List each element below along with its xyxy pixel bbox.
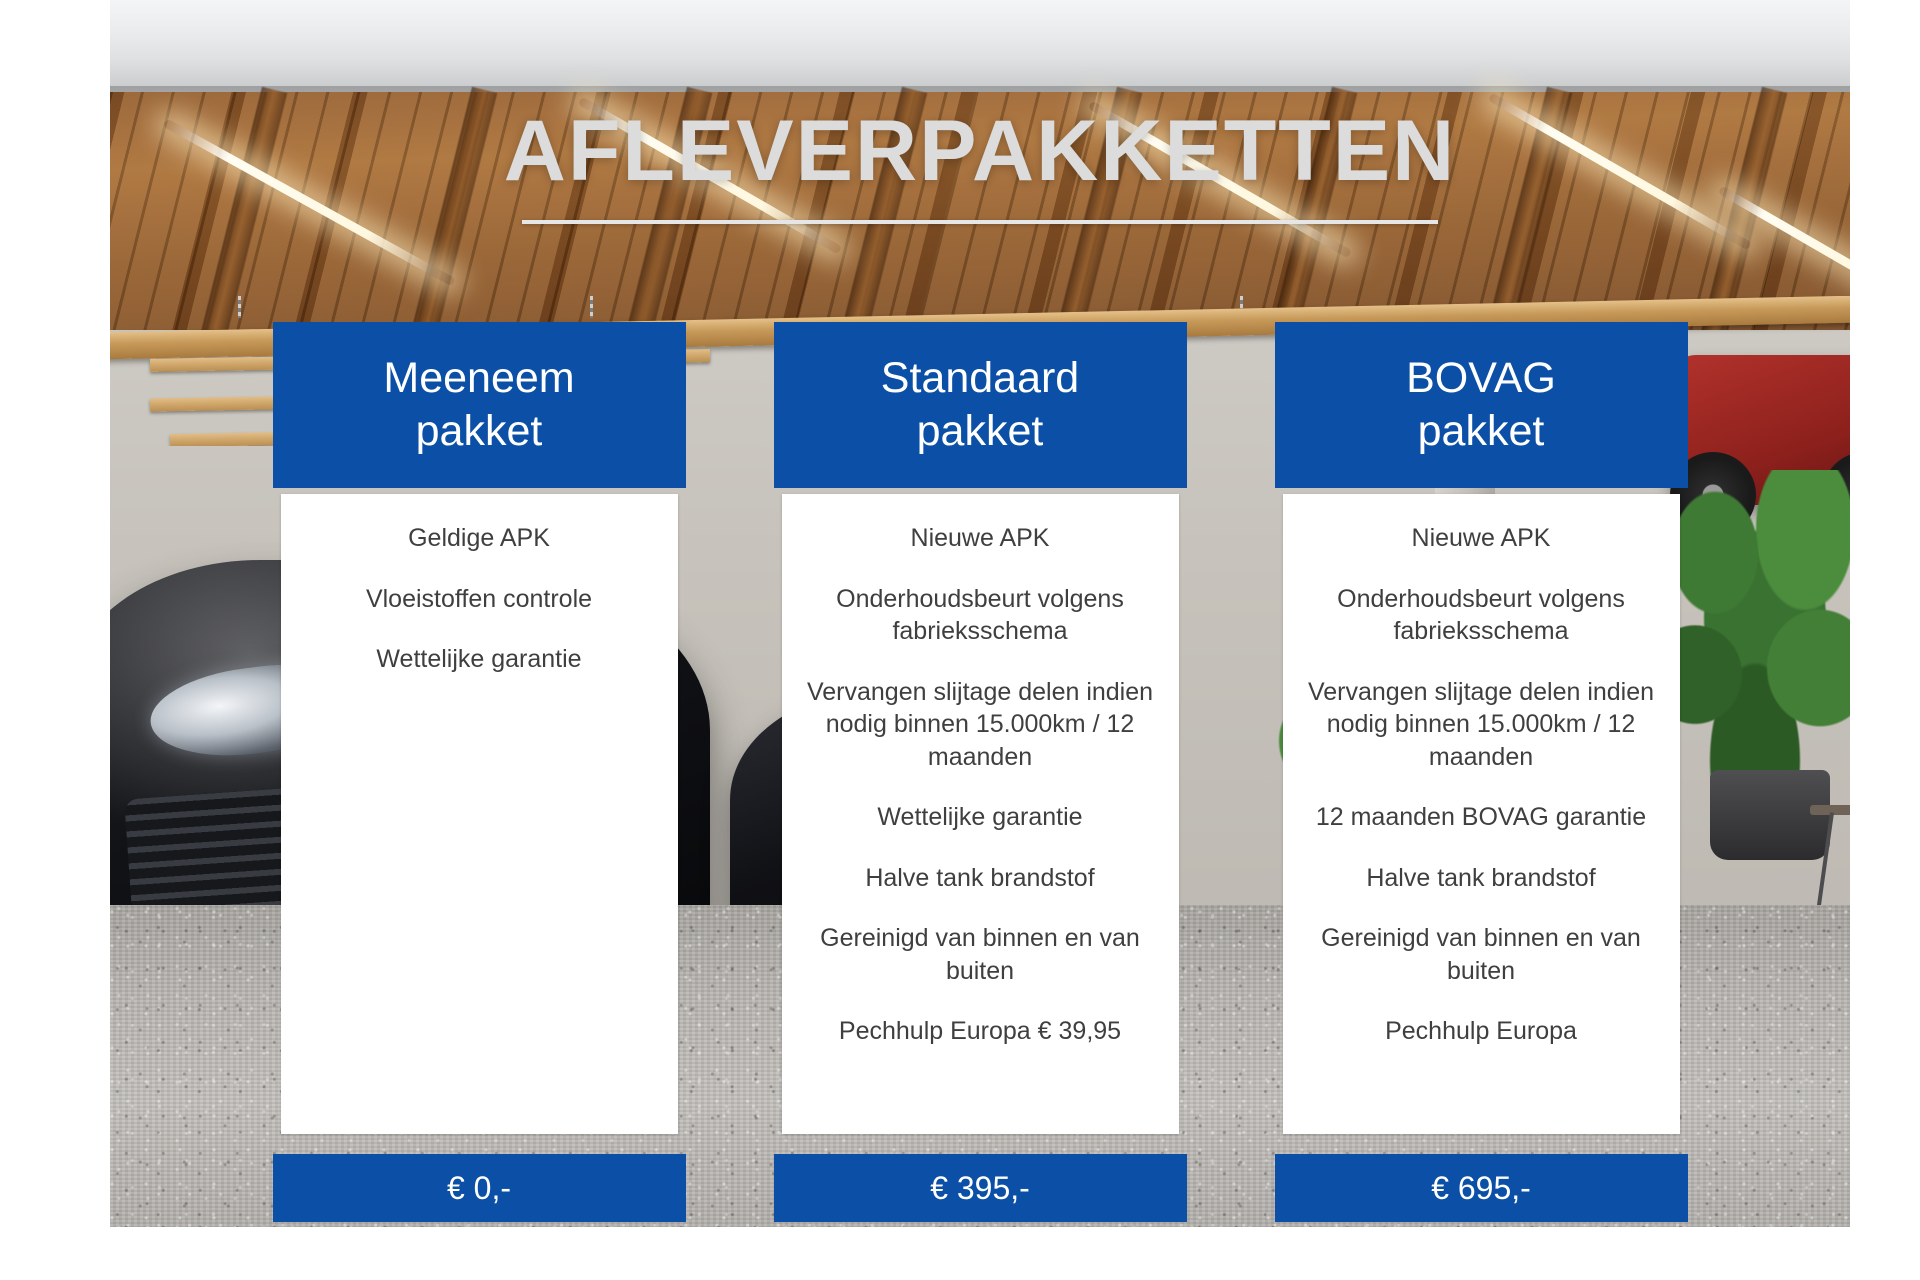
package-features-bovag: Nieuwe APK Onderhoudsbeurt volgens fabri… — [1283, 494, 1680, 1134]
package-cards: Meeneem pakket Geldige APK Vloeistoffen … — [110, 322, 1850, 1222]
page-title: AFLEVERPAKKETTEN — [504, 108, 1457, 194]
feature-item: Halve tank brandstof — [1307, 862, 1656, 895]
feature-item: Wettelijke garantie — [305, 643, 654, 676]
package-name-line2: pakket — [416, 407, 543, 455]
package-price-bovag[interactable]: € 695,- — [1275, 1154, 1688, 1222]
feature-item: Onderhoudsbeurt volgens fabrieksschema — [1307, 583, 1656, 648]
package-price-standaard[interactable]: € 395,- — [774, 1154, 1187, 1222]
package-name-line2: pakket — [917, 407, 1044, 455]
poster-page: elf AFLEVERPAKKETTEN Meeneem — [0, 0, 1920, 1280]
feature-item: Gereinigd van binnen en van buiten — [1307, 922, 1656, 987]
feature-item: Nieuwe APK — [1307, 522, 1656, 555]
ceiling-soffit-icon — [110, 0, 1850, 96]
feature-item: Vloeistoffen controle — [305, 583, 654, 616]
feature-item: Nieuwe APK — [806, 522, 1155, 555]
package-card-standaard[interactable]: Standaard pakket Nieuwe APK Onderhoudsbe… — [774, 322, 1187, 1222]
feature-item: Geldige APK — [305, 522, 654, 555]
feature-item: Vervangen slijtage delen indien nodig bi… — [1307, 676, 1656, 774]
package-title-bovag: BOVAG pakket — [1275, 322, 1688, 488]
package-card-meeneem[interactable]: Meeneem pakket Geldige APK Vloeistoffen … — [273, 322, 686, 1222]
package-features-standaard: Nieuwe APK Onderhoudsbeurt volgens fabri… — [782, 494, 1179, 1134]
package-title-standaard: Standaard pakket — [774, 322, 1187, 488]
feature-item: Vervangen slijtage delen indien nodig bi… — [806, 676, 1155, 774]
package-name-line1: Standaard — [881, 354, 1079, 402]
title-underline — [522, 220, 1438, 224]
feature-item: Pechhulp Europa — [1307, 1015, 1656, 1048]
feature-item: Pechhulp Europa € 39,95 — [806, 1015, 1155, 1048]
title-block: AFLEVERPAKKETTEN — [110, 108, 1850, 224]
background-photo: elf AFLEVERPAKKETTEN Meeneem — [110, 0, 1850, 1227]
feature-item: 12 maanden BOVAG garantie — [1307, 801, 1656, 834]
feature-item: Onderhoudsbeurt volgens fabrieksschema — [806, 583, 1155, 648]
package-price-meeneem[interactable]: € 0,- — [273, 1154, 686, 1222]
feature-item: Halve tank brandstof — [806, 862, 1155, 895]
package-card-bovag[interactable]: BOVAG pakket Nieuwe APK Onderhoudsbeurt … — [1275, 322, 1688, 1222]
package-name-line1: BOVAG — [1406, 354, 1556, 402]
feature-item: Gereinigd van binnen en van buiten — [806, 922, 1155, 987]
package-title-meeneem: Meeneem pakket — [273, 322, 686, 488]
package-features-meeneem: Geldige APK Vloeistoffen controle Wettel… — [281, 494, 678, 1134]
package-name-line1: Meeneem — [383, 354, 574, 402]
package-name-line2: pakket — [1418, 407, 1545, 455]
feature-item: Wettelijke garantie — [806, 801, 1155, 834]
